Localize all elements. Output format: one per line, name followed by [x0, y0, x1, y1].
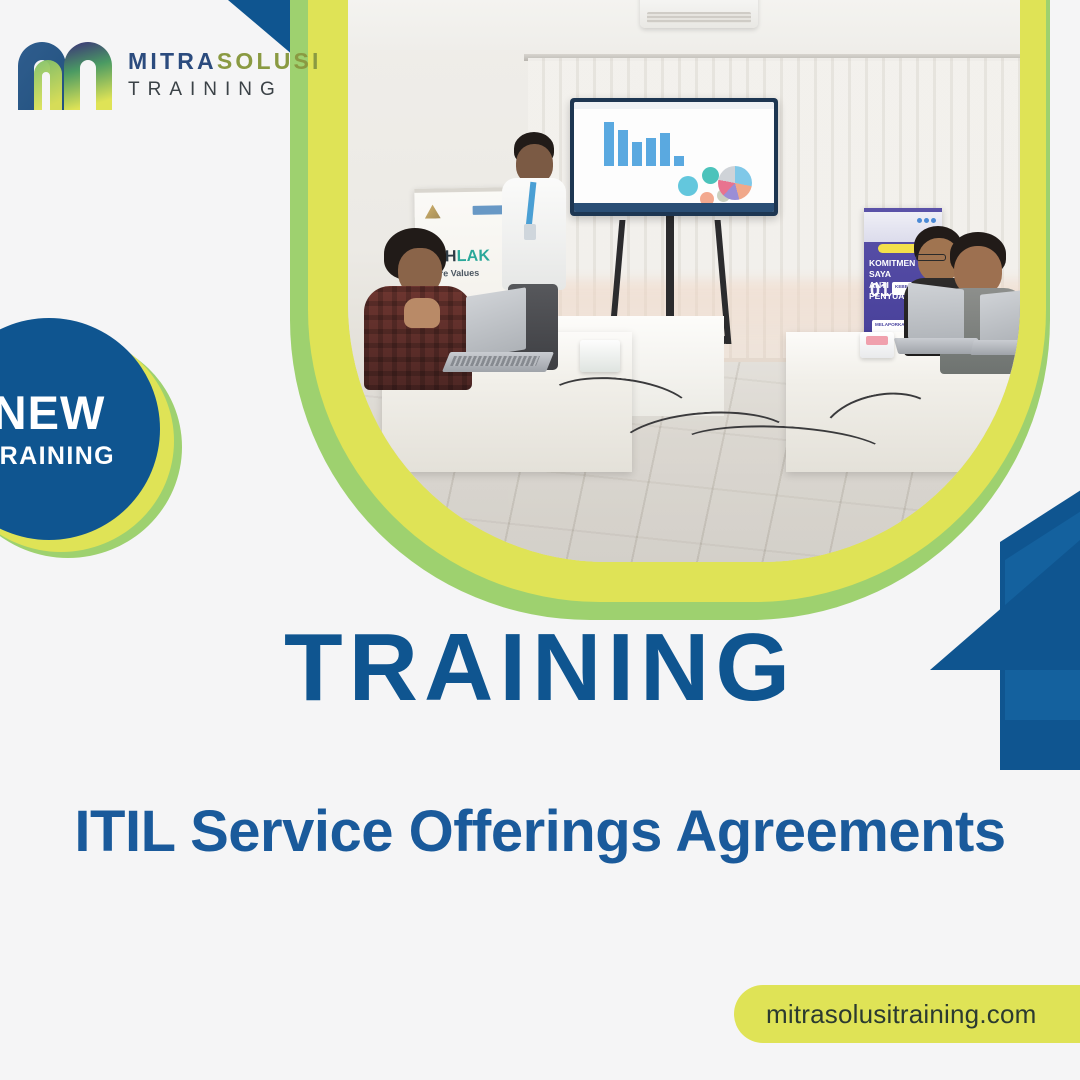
- brand-wordmark: MITRA SOLUSI TRAINING: [128, 48, 322, 99]
- page-title: TRAINING: [0, 620, 1080, 716]
- brand-name-part1: MITRA: [128, 50, 217, 73]
- screen-bubble-2: [702, 167, 719, 184]
- poster-number-01: 01: [870, 280, 890, 301]
- presentation-display: [570, 98, 778, 216]
- classroom-scene: AKHLAK Core Values AmanahMemegang teguh …: [348, 0, 1020, 562]
- website-pill[interactable]: mitrasolusitraining.com: [734, 985, 1080, 1043]
- air-conditioner-icon: [640, 0, 758, 28]
- participant-left-hands: [404, 298, 440, 328]
- screen-bubble-1: [678, 176, 698, 196]
- course-title: ITIL Service Offerings Agreements: [0, 800, 1080, 864]
- presenter-badge: [524, 224, 536, 240]
- banner-emblem-icon: [425, 204, 441, 218]
- new-training-badge[interactable]: NEW TRAINING: [0, 318, 208, 563]
- brand-name-part2: SOLUSI: [217, 50, 322, 73]
- brand-logo[interactable]: MITRA SOLUSI TRAINING: [16, 34, 322, 112]
- display-screen: [574, 102, 774, 212]
- screen-bar-chart: [604, 114, 684, 166]
- mitra-solusi-m-monogram-icon: [16, 34, 116, 112]
- screen-pie-chart: [718, 166, 752, 200]
- website-url: mitrasolusitraining.com: [734, 999, 1036, 1030]
- badge-label-training: TRAINING: [0, 444, 115, 469]
- tissue-box: [860, 332, 894, 358]
- brand-name-line2: TRAINING: [128, 80, 322, 99]
- badge-label-new: NEW: [0, 389, 105, 436]
- training-photo: AKHLAK Core Values AmanahMemegang teguh …: [348, 0, 1020, 562]
- projector-device: [580, 340, 620, 372]
- poster-canvas: AKHLAK Core Values AmanahMemegang teguh …: [0, 0, 1080, 1080]
